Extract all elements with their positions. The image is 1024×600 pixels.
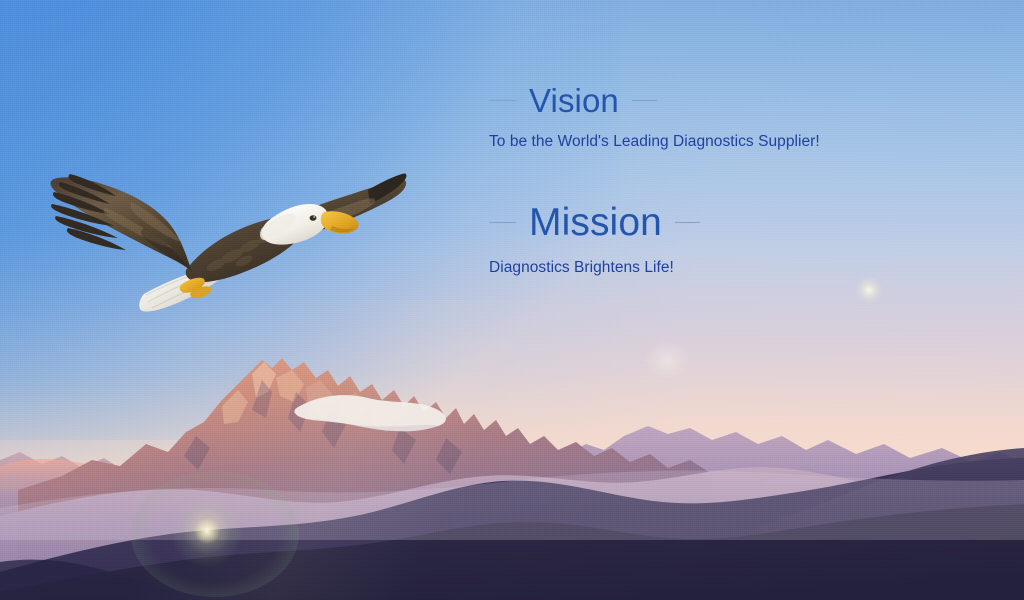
mission-subtitle: Diagnostics Brightens Life!: [489, 259, 919, 277]
mission-heading: Mission: [529, 203, 662, 242]
vision-headline: Vision: [489, 84, 919, 117]
mission-headline: Mission: [489, 203, 919, 242]
vision-mission-banner: Vision To be the World's Leading Diagnos…: [0, 0, 1024, 600]
vision-heading: Vision: [529, 84, 619, 117]
vision-block: Vision To be the World's Leading Diagnos…: [489, 84, 919, 151]
vision-mission-text: Vision To be the World's Leading Diagnos…: [489, 84, 919, 277]
eagle-icon: [36, 166, 408, 318]
mission-block: Mission Diagnostics Brightens Life!: [489, 203, 919, 277]
mission-rule-right: [675, 222, 700, 223]
vision-rule-left: [489, 100, 516, 101]
eagle-eye-glint: [313, 216, 315, 218]
vision-subtitle: To be the World's Leading Diagnostics Su…: [489, 133, 919, 151]
mission-rule-left: [489, 222, 516, 223]
eagle-eye: [310, 215, 317, 221]
mountain-range: [0, 340, 1024, 600]
vision-rule-right: [632, 100, 657, 101]
